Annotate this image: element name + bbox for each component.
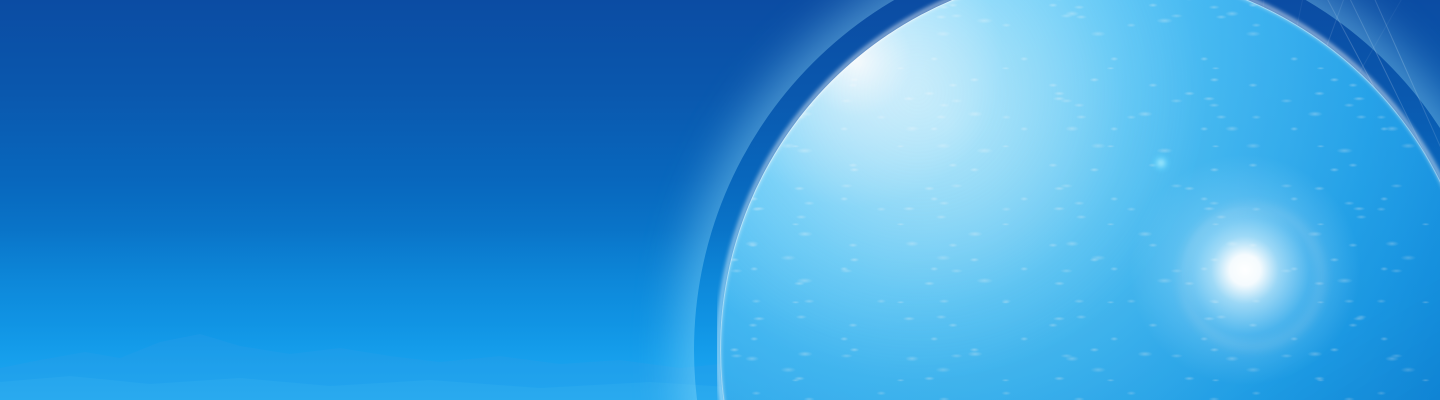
- earth-limb: [720, 0, 1440, 400]
- planet-shading: [720, 0, 1440, 400]
- lens-flare-orb: [1151, 153, 1171, 173]
- planet-rim-light: [717, 0, 1440, 400]
- planet-cloud-texture: [720, 0, 1440, 400]
- hero-banner: [0, 0, 1440, 400]
- flare-streak: [1316, 0, 1440, 253]
- flare-streak: [1261, 0, 1440, 246]
- dot-matrix-world-map: [0, 0, 820, 400]
- flare-streak: [1014, 179, 1367, 322]
- sun-flare-core: [1245, 270, 1246, 271]
- flare-streak: [1287, 0, 1440, 249]
- planet-body: [720, 0, 1440, 400]
- flare-streak: [1011, 165, 1368, 296]
